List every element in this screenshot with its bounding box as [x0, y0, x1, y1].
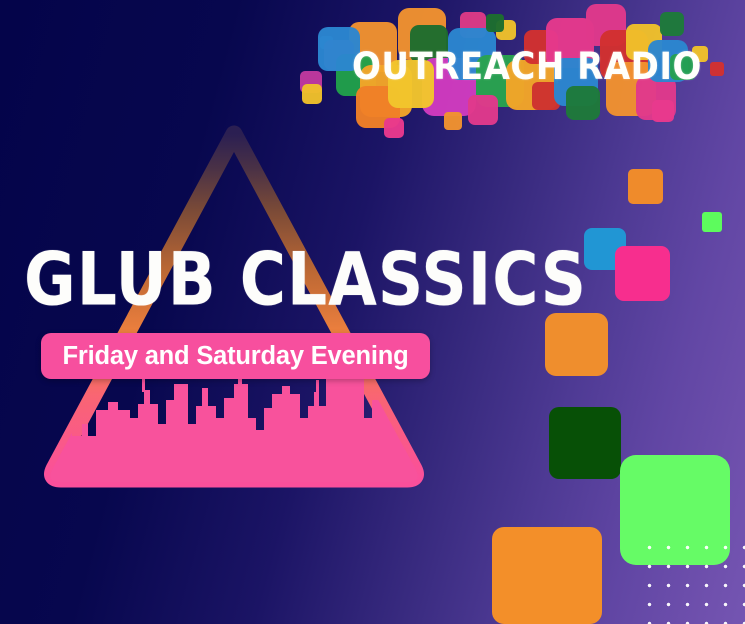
logo-tile [652, 100, 674, 122]
subtitle-text: Friday and Saturday Evening [62, 342, 408, 371]
logo-tile [468, 95, 498, 125]
square-pink [615, 246, 670, 301]
station-logo: OUTREACH RADIO [300, 0, 745, 150]
logo-tile [660, 12, 684, 36]
subtitle-banner: Friday and Saturday Evening [41, 333, 430, 379]
logo-text: OUTREACH RADIO [352, 48, 692, 85]
logo-tile [710, 62, 724, 76]
poster-canvas: GLUB CLASSICS Friday and Saturday Evenin… [0, 0, 745, 624]
logo-tile [302, 84, 322, 104]
square-orange-top [628, 169, 663, 204]
square-orange-mid [545, 313, 608, 376]
dot-grid-pattern [635, 534, 745, 624]
logo-tile [384, 118, 404, 138]
square-orange-bottom [492, 527, 602, 624]
logo-tile [486, 14, 504, 32]
page-title: GLUB CLASSICS [24, 243, 524, 316]
square-green-small [702, 212, 722, 232]
square-darkgreen [549, 407, 621, 479]
logo-tile [444, 112, 462, 130]
logo-tile [566, 86, 600, 120]
